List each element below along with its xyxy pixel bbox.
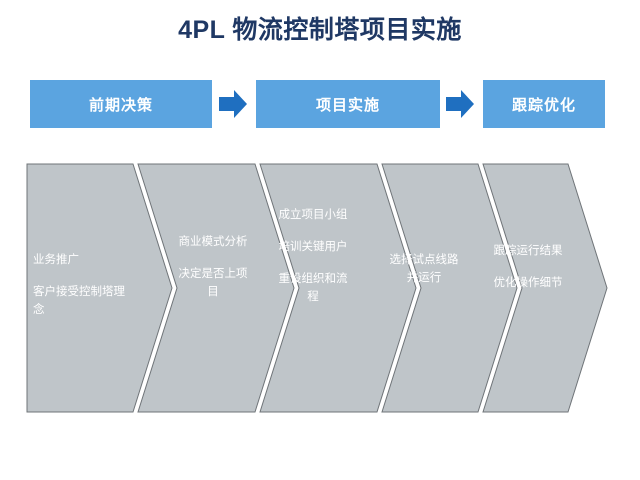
chevron-shapes [0,0,640,480]
process-chevron-row: 业务推广 客户接受控制塔理念 商业模式分析 决定是否上项目 成立项目小组 培训关… [0,0,640,480]
slide-canvas: 4PL 物流控制塔项目实施 前期决策 项目实施 跟踪优化 [0,0,640,480]
